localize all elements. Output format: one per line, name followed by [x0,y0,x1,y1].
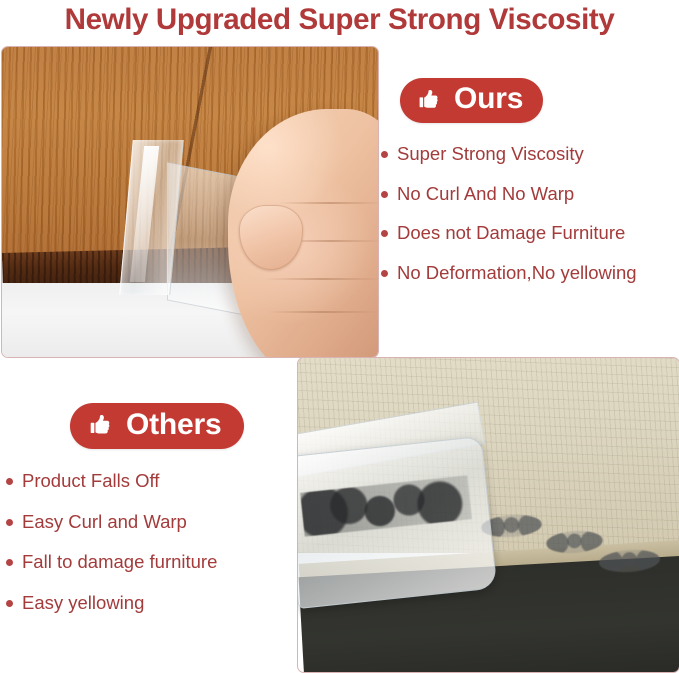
bullet-dot [381,191,388,198]
bullet-dot [381,230,388,237]
others-badge-label: Others [126,410,222,443]
ours-bullet-4: No Deformation,No yellowing [397,264,637,283]
list-item: Product Falls Off [6,472,296,491]
ours-bullet-2: No Curl And No Warp [397,185,574,204]
others-product-photo [297,357,679,673]
ours-product-photo [1,46,379,358]
others-badge: Others [70,403,244,449]
ours-photo-scene [2,47,378,357]
bullet-dot [381,151,388,158]
finger-crease [264,278,379,280]
list-item: Easy Curl and Warp [6,513,296,532]
ours-feature-list: Super Strong Viscosity No Curl And No Wa… [381,145,679,303]
finger-crease [267,311,379,313]
list-item: Super Strong Viscosity [381,145,679,164]
list-item: Does not Damage Furniture [381,224,679,243]
ours-badge: Ours [400,78,543,123]
ours-badge-label: Ours [454,84,523,117]
thumbs-up-icon [88,413,115,440]
others-bullet-4: Easy yellowing [22,594,144,613]
ours-bullet-3: Does not Damage Furniture [397,224,625,243]
ours-bullet-1: Super Strong Viscosity [397,145,584,164]
list-item: Fall to damage furniture [6,553,296,572]
others-bullet-3: Fall to damage furniture [22,553,217,572]
others-photo-scene [298,358,679,672]
others-bullet-2: Easy Curl and Warp [22,513,187,532]
list-item: Easy yellowing [6,594,296,613]
bullet-dot [6,559,13,566]
bullet-dot [6,519,13,526]
page-title: Newly Upgraded Super Strong Viscosity [5,1,674,39]
list-item: No Deformation,No yellowing [381,264,679,283]
finger-crease [278,202,379,204]
others-feature-list: Product Falls Off Easy Curl and Warp Fal… [6,472,296,634]
bullet-dot [381,270,388,277]
thumbs-up-icon [417,88,443,114]
bullet-dot [6,600,13,607]
bullet-dot [6,478,13,485]
others-bullet-1: Product Falls Off [22,472,159,491]
list-item: No Curl And No Warp [381,185,679,204]
